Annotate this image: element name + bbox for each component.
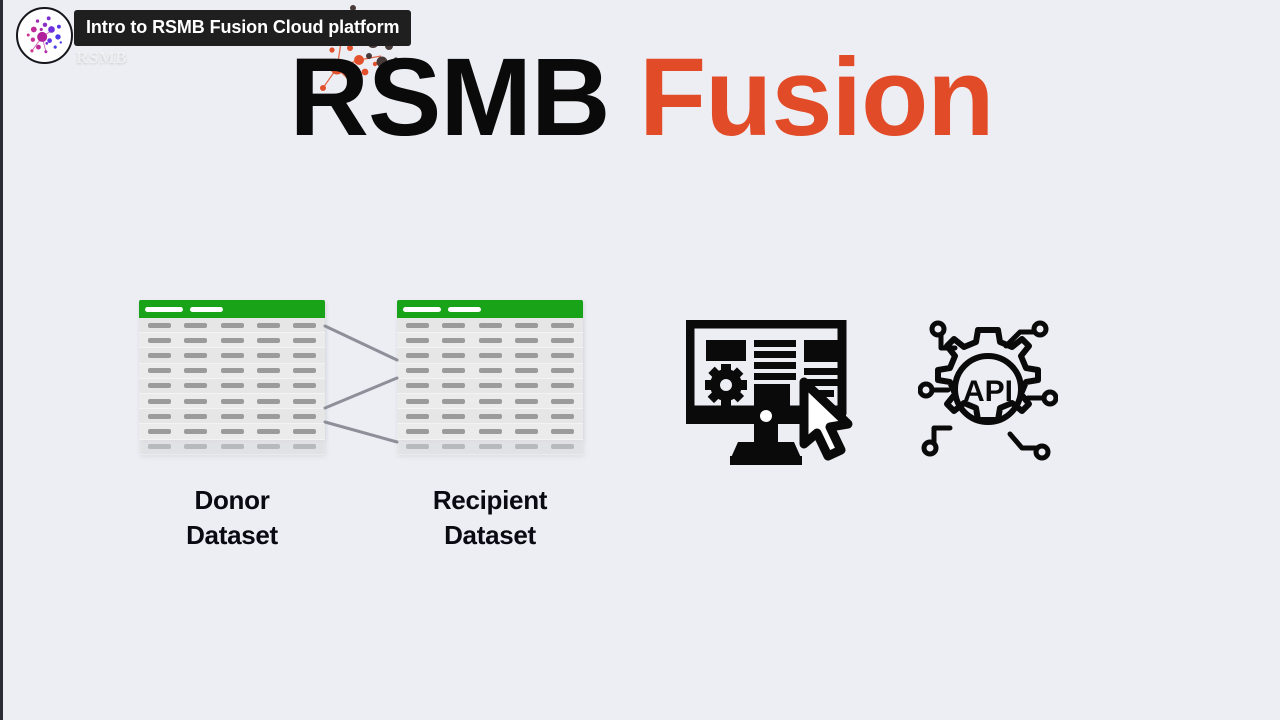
table-cell — [442, 368, 465, 373]
label-line-2: Dataset — [139, 518, 325, 553]
table-cell — [515, 353, 538, 358]
channel-logo[interactable] — [16, 7, 73, 64]
table-cell — [406, 338, 429, 343]
table-cell — [148, 368, 171, 373]
dataset-link-lines — [321, 300, 401, 470]
table-row — [139, 424, 325, 439]
table-cell — [515, 383, 538, 388]
table-cell — [184, 383, 207, 388]
label-line-1: Donor — [139, 483, 325, 518]
table-row — [397, 379, 583, 394]
table-cell — [184, 414, 207, 419]
table-row — [397, 348, 583, 363]
table-cell — [257, 323, 280, 328]
recipient-dataset-label: Recipient Dataset — [397, 483, 583, 553]
table-cell — [221, 444, 244, 449]
table-cell — [551, 399, 574, 404]
table-cell — [293, 353, 316, 358]
table-cell — [551, 323, 574, 328]
table-row — [139, 394, 325, 409]
table-cell — [221, 353, 244, 358]
table-row — [139, 409, 325, 424]
table-grid-icon — [139, 300, 325, 455]
slide-canvas: RSMB Fusion — [3, 0, 1280, 720]
headline-product: Fusion — [639, 36, 994, 159]
table-cell — [148, 383, 171, 388]
table-cell — [442, 444, 465, 449]
table-cell — [257, 414, 280, 419]
table-cell — [293, 399, 316, 404]
monitor-dashboard-cursor-icon — [686, 320, 856, 465]
table-row — [139, 333, 325, 348]
table-cell — [442, 399, 465, 404]
table-cell — [257, 353, 280, 358]
table-row — [397, 333, 583, 348]
table-cell — [406, 399, 429, 404]
table-cell — [515, 414, 538, 419]
table-cell — [257, 368, 280, 373]
table-cell — [184, 323, 207, 328]
table-cell — [479, 323, 502, 328]
donor-dataset: Donor Dataset — [139, 300, 325, 553]
header-bar — [448, 307, 481, 312]
table-cell — [442, 383, 465, 388]
table-cell — [257, 399, 280, 404]
table-cell — [406, 323, 429, 328]
table-cell — [406, 444, 429, 449]
table-cell — [551, 414, 574, 419]
label-line-1: Recipient — [397, 483, 583, 518]
table-cell — [442, 338, 465, 343]
api-gear-network-icon: API — [918, 312, 1058, 467]
table-cell — [148, 444, 171, 449]
table-cell — [148, 414, 171, 419]
table-cell — [515, 429, 538, 434]
table-cell — [221, 399, 244, 404]
table-cell — [442, 323, 465, 328]
table-cell — [184, 353, 207, 358]
table-row — [397, 394, 583, 409]
table-cell — [551, 383, 574, 388]
table-cell — [221, 338, 244, 343]
table-header — [139, 300, 325, 318]
table-row — [139, 318, 325, 333]
table-cell — [257, 383, 280, 388]
table-cell — [293, 414, 316, 419]
table-row — [397, 424, 583, 439]
api-label: API — [963, 375, 1013, 408]
table-cell — [221, 368, 244, 373]
table-cell — [551, 338, 574, 343]
table-cell — [406, 353, 429, 358]
table-cell — [515, 323, 538, 328]
table-row — [139, 348, 325, 363]
table-cell — [221, 414, 244, 419]
table-cell — [221, 429, 244, 434]
table-cell — [293, 368, 316, 373]
header-bar — [145, 307, 183, 312]
video-title-tooltip[interactable]: Intro to RSMB Fusion Cloud platform — [74, 10, 411, 46]
header-bar — [190, 307, 223, 312]
table-cell — [479, 338, 502, 343]
recipient-dataset: Recipient Dataset — [397, 300, 583, 553]
table-cell — [293, 338, 316, 343]
table-cell — [479, 353, 502, 358]
table-cell — [479, 444, 502, 449]
table-cell — [479, 399, 502, 404]
label-line-2: Dataset — [397, 518, 583, 553]
headline-brand: RSMB — [290, 36, 610, 159]
table-cell — [184, 338, 207, 343]
table-row — [139, 364, 325, 379]
slide-headline: RSMB Fusion — [3, 40, 1280, 156]
table-cell — [257, 338, 280, 343]
table-cell — [293, 383, 316, 388]
table-cell — [184, 444, 207, 449]
table-grid-icon — [397, 300, 583, 455]
table-cell — [257, 429, 280, 434]
table-row — [397, 409, 583, 424]
table-cell — [184, 399, 207, 404]
table-cell — [148, 399, 171, 404]
table-cell — [184, 368, 207, 373]
table-cell — [221, 323, 244, 328]
table-cell — [406, 429, 429, 434]
table-cell — [293, 429, 316, 434]
table-cell — [515, 338, 538, 343]
table-cell — [148, 323, 171, 328]
table-cell — [479, 429, 502, 434]
table-cell — [551, 429, 574, 434]
table-cell — [442, 429, 465, 434]
table-cell — [479, 368, 502, 373]
table-cell — [515, 399, 538, 404]
table-cell — [551, 353, 574, 358]
table-cell — [257, 444, 280, 449]
table-cell — [515, 368, 538, 373]
table-cell — [406, 414, 429, 419]
table-cell — [148, 429, 171, 434]
video-frame: RSMB Fusion — [0, 0, 1280, 720]
table-cell — [551, 368, 574, 373]
table-cell — [442, 414, 465, 419]
table-cell — [148, 353, 171, 358]
header-bar — [403, 307, 441, 312]
table-cell — [515, 444, 538, 449]
table-cell — [184, 429, 207, 434]
table-row — [397, 364, 583, 379]
channel-wordmark: RSMB — [76, 48, 127, 68]
donor-dataset-label: Donor Dataset — [139, 483, 325, 553]
table-cell — [442, 353, 465, 358]
table-cell — [406, 368, 429, 373]
table-cell — [479, 414, 502, 419]
table-cell — [221, 383, 244, 388]
table-cell — [293, 444, 316, 449]
table-row — [397, 318, 583, 333]
table-cell — [148, 338, 171, 343]
table-row — [139, 440, 325, 455]
table-row — [397, 440, 583, 455]
table-cell — [479, 383, 502, 388]
table-row — [139, 379, 325, 394]
table-cell — [551, 444, 574, 449]
table-cell — [406, 383, 429, 388]
table-cell — [293, 323, 316, 328]
table-header — [397, 300, 583, 318]
